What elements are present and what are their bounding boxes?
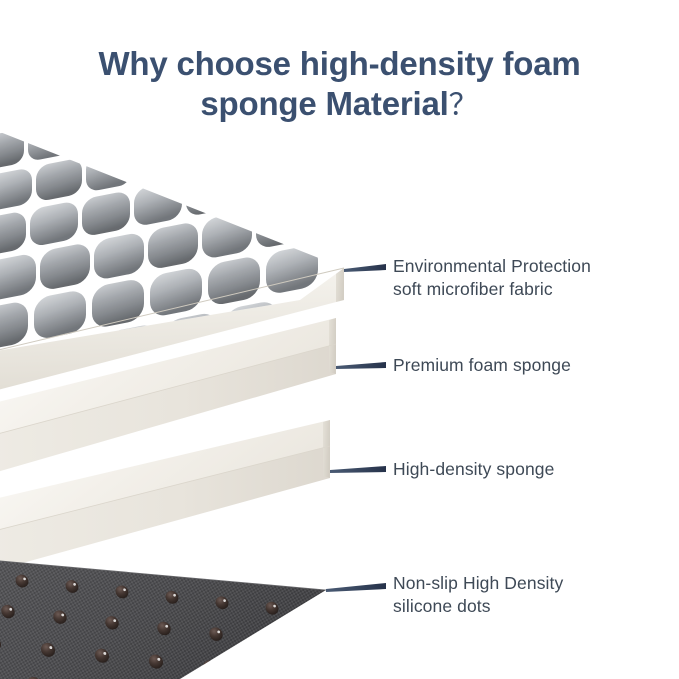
title-line-2-text: sponge Material bbox=[200, 85, 448, 122]
label-high-density-line1: High-density sponge bbox=[393, 459, 554, 479]
leader-line-high-density bbox=[330, 466, 386, 473]
page-title: Why choose high-density foam sponge Mate… bbox=[0, 44, 679, 125]
label-microfiber: Environmental Protection soft microfiber… bbox=[393, 255, 591, 301]
microfiber-slab-end bbox=[336, 268, 344, 302]
leader-lines bbox=[326, 264, 386, 592]
label-silicone-dots-line2: silicone dots bbox=[393, 595, 563, 618]
label-microfiber-line2: soft microfiber fabric bbox=[393, 278, 591, 301]
label-high-density: High-density sponge bbox=[393, 458, 554, 481]
title-line-2: sponge Material？ bbox=[0, 84, 679, 125]
label-silicone-dots: Non-slip High Density silicone dots bbox=[393, 572, 563, 618]
infographic-canvas: Why choose high-density foam sponge Mate… bbox=[0, 0, 679, 679]
premium-foam-end bbox=[329, 318, 336, 374]
label-silicone-dots-line1: Non-slip High Density bbox=[393, 573, 563, 593]
leader-line-microfiber bbox=[344, 264, 386, 272]
title-question-mark: ？ bbox=[449, 89, 479, 122]
label-premium-foam-line1: Premium foam sponge bbox=[393, 355, 571, 375]
title-line-1: Why choose high-density foam bbox=[0, 44, 679, 84]
layer-silicone-dots bbox=[0, 560, 328, 679]
label-microfiber-line1: Environmental Protection bbox=[393, 256, 591, 276]
label-premium-foam: Premium foam sponge bbox=[393, 354, 571, 377]
high-density-end bbox=[323, 420, 330, 478]
leader-line-silicone bbox=[326, 583, 386, 592]
leader-line-premium-foam bbox=[336, 362, 386, 369]
